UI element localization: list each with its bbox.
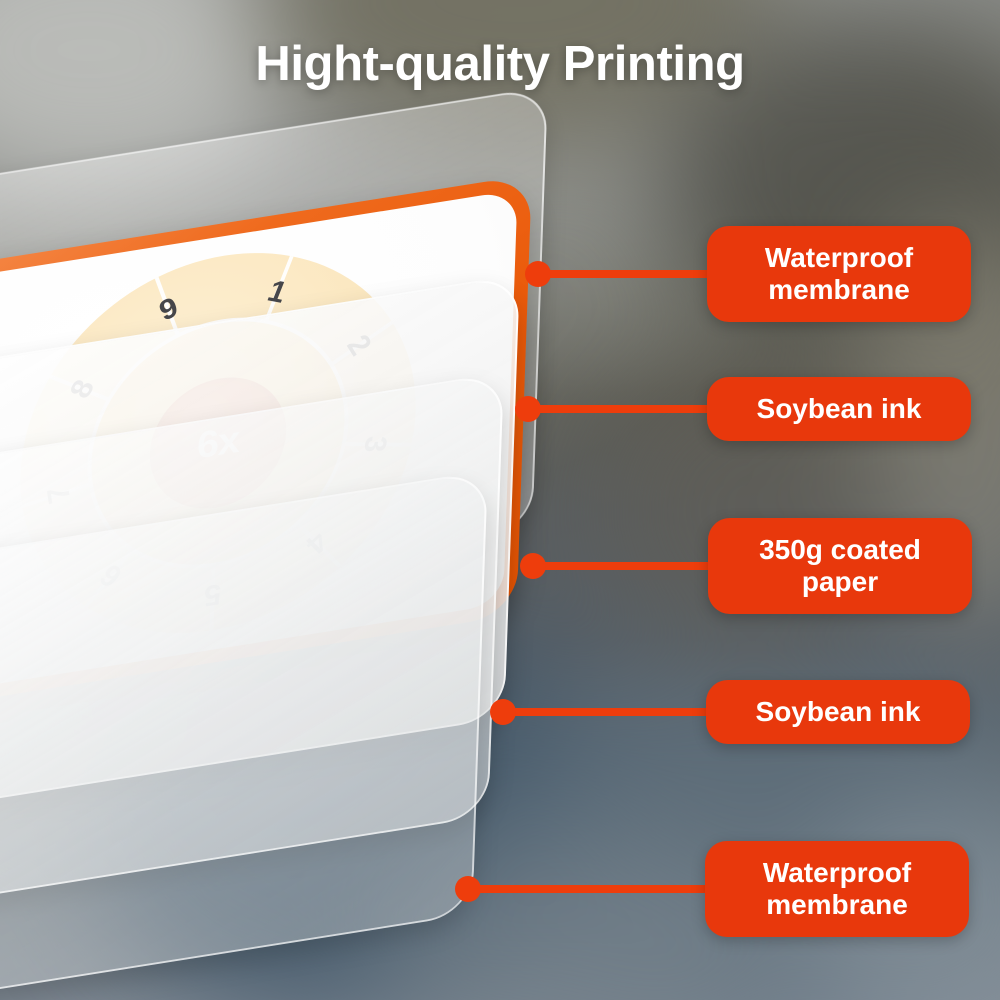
- callout-leader-line: [547, 270, 709, 278]
- callout-leader-line: [542, 562, 710, 570]
- callout-badge-waterproof-membrane-top[interactable]: Waterproof membrane: [707, 226, 971, 322]
- callout-dot-icon: [490, 699, 516, 725]
- callout-dot-icon: [515, 396, 541, 422]
- callout-dot-icon: [455, 876, 481, 902]
- callout-badge-soybean-ink-top[interactable]: Soybean ink: [707, 377, 971, 441]
- callout-leader-line: [512, 708, 708, 716]
- callout-badge-coated-paper[interactable]: 350g coated paper: [708, 518, 972, 614]
- callout-dot-icon: [525, 261, 551, 287]
- callout-dot-icon: [520, 553, 546, 579]
- callout-leader-line: [477, 885, 707, 893]
- callout-soybean-ink-bottom: Soybean ink: [490, 680, 970, 744]
- callout-coated-paper: 350g coated paper: [520, 518, 972, 614]
- callout-group: Waterproof membrane Soybean ink 350g coa…: [0, 0, 1000, 1000]
- callout-leader-line: [537, 405, 709, 413]
- callout-soybean-ink-top: Soybean ink: [515, 377, 971, 441]
- callout-waterproof-membrane-bottom: Waterproof membrane: [455, 841, 969, 937]
- callout-waterproof-membrane-top: Waterproof membrane: [525, 226, 971, 322]
- callout-badge-waterproof-membrane-bottom[interactable]: Waterproof membrane: [705, 841, 969, 937]
- callout-badge-soybean-ink-bottom[interactable]: Soybean ink: [706, 680, 970, 744]
- infographic-stage: Hight-quality Printing: [0, 0, 1000, 1000]
